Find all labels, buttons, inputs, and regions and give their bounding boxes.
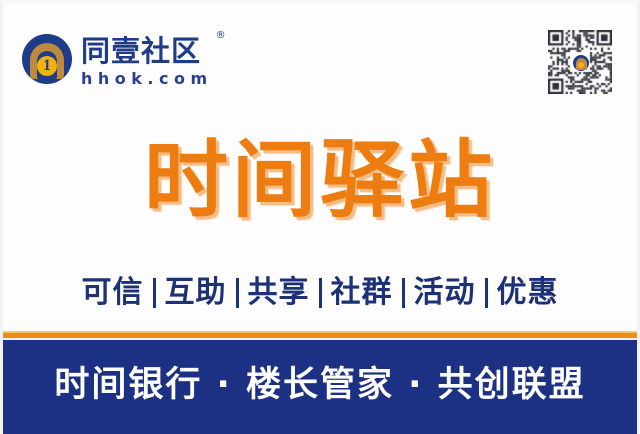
- headline-text: 时间驿站: [144, 131, 496, 229]
- keyword-item: 可信: [73, 275, 153, 311]
- keyword-item: 活动: [405, 275, 485, 311]
- keyword-item: 共享: [239, 275, 319, 311]
- brand-name-cn: 同壹社区 ®: [81, 35, 213, 67]
- registered-trademark-icon: ®: [216, 31, 227, 41]
- brand-logo-lockup[interactable]: 1 同壹社区 ® hhok.com: [22, 34, 213, 88]
- qr-logo-dot-shape: [578, 62, 584, 68]
- poster-canvas: 1 同壹社区 ® hhok.com 时间驿站 可信互助共享社群活: [0, 0, 640, 434]
- keyword-item: 社群: [322, 275, 402, 311]
- logo-numeral: 1: [37, 55, 57, 77]
- qr-code-icon[interactable]: [548, 30, 612, 94]
- keyword-item: 互助: [156, 275, 236, 311]
- headline: 时间驿站: [0, 131, 640, 229]
- keyword-strip: 可信互助共享社群活动优惠: [0, 275, 640, 311]
- upper-white-section: 1 同壹社区 ® hhok.com 时间驿站 可信互助共享社群活: [0, 0, 640, 331]
- keyword-item: 优惠: [488, 275, 568, 311]
- bottom-banner: 时间银行 · 楼长管家 · 共创联盟: [0, 340, 640, 434]
- qr-center-logo-icon: [571, 53, 589, 71]
- brand-text-block: 同壹社区 ® hhok.com: [81, 34, 213, 88]
- hhok-community-logo-icon: 1: [22, 34, 72, 84]
- brand-website: hhok.com: [81, 69, 213, 88]
- brand-name-label: 同壹社区: [81, 34, 201, 68]
- banner-text: 时间银行 · 楼长管家 · 共创联盟: [54, 363, 585, 407]
